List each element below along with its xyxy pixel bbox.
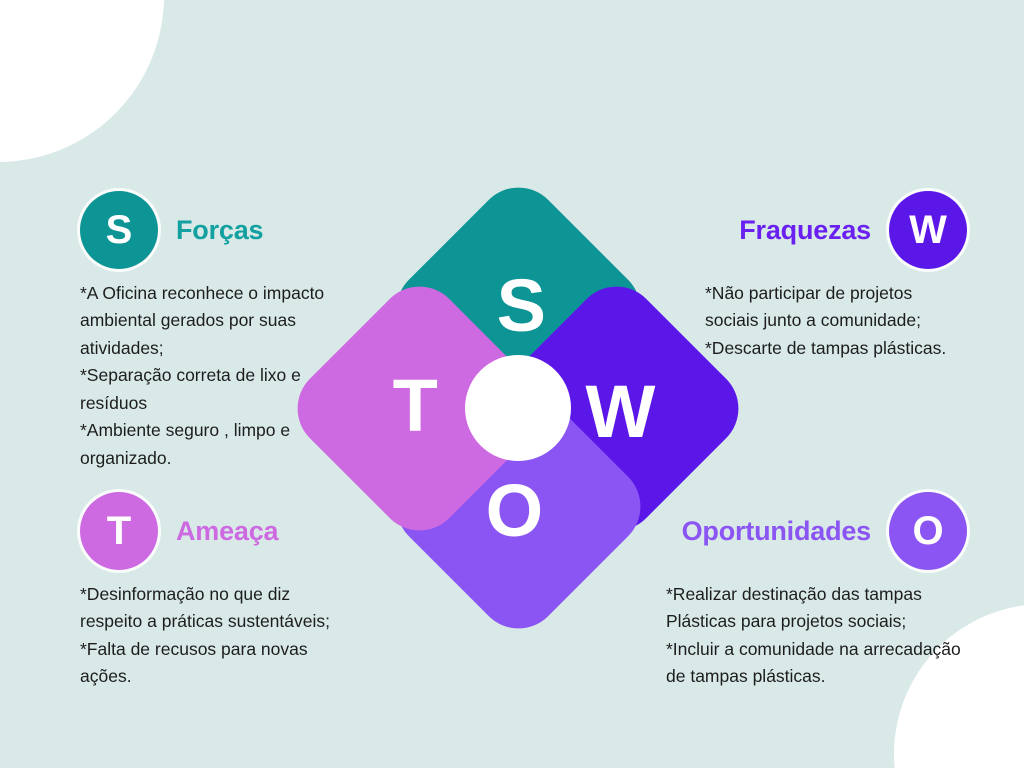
weaknesses-header: W Fraquezas — [691, 191, 967, 269]
strengths-badge-letter: S — [106, 210, 133, 250]
strengths-title: Forças — [176, 215, 263, 246]
quadrant-threats: T Ameaça *Desinformação no que diz respe… — [80, 492, 338, 691]
threats-title: Ameaça — [176, 516, 278, 547]
opportunities-title: Oportunidades — [682, 516, 871, 547]
threats-badge-letter: T — [107, 511, 131, 551]
swot-letter-t: T — [393, 368, 438, 442]
background-circle-top-left — [0, 0, 164, 162]
swot-letter-s: S — [496, 268, 545, 342]
strengths-header: S Forças — [80, 191, 338, 269]
opportunities-badge: O — [889, 492, 967, 570]
opportunities-body: *Realizar destinação das tampas Plástica… — [666, 581, 967, 691]
opportunities-header: O Oportunidades — [655, 492, 967, 570]
threats-header: T Ameaça — [80, 492, 338, 570]
swot-letter-w: W — [586, 374, 656, 448]
swot-center-hub — [465, 355, 571, 461]
quadrant-weaknesses: W Fraquezas *Não participar de projetos … — [691, 191, 967, 362]
strengths-body: *A Oficina reconhece o impacto ambiental… — [80, 280, 338, 472]
quadrant-opportunities: O Oportunidades *Realizar destinação das… — [655, 492, 967, 691]
quadrant-strengths: S Forças *A Oficina reconhece o impacto … — [80, 191, 338, 472]
threats-body: *Desinformação no que diz respeito a prá… — [80, 581, 338, 691]
weaknesses-body: *Não participar de projetos sociais junt… — [705, 280, 967, 362]
threats-badge: T — [80, 492, 158, 570]
strengths-badge: S — [80, 191, 158, 269]
weaknesses-badge-letter: W — [909, 210, 947, 250]
weaknesses-title: Fraquezas — [739, 215, 871, 246]
weaknesses-badge: W — [889, 191, 967, 269]
opportunities-badge-letter: O — [912, 511, 943, 551]
swot-letter-o: O — [485, 474, 543, 548]
